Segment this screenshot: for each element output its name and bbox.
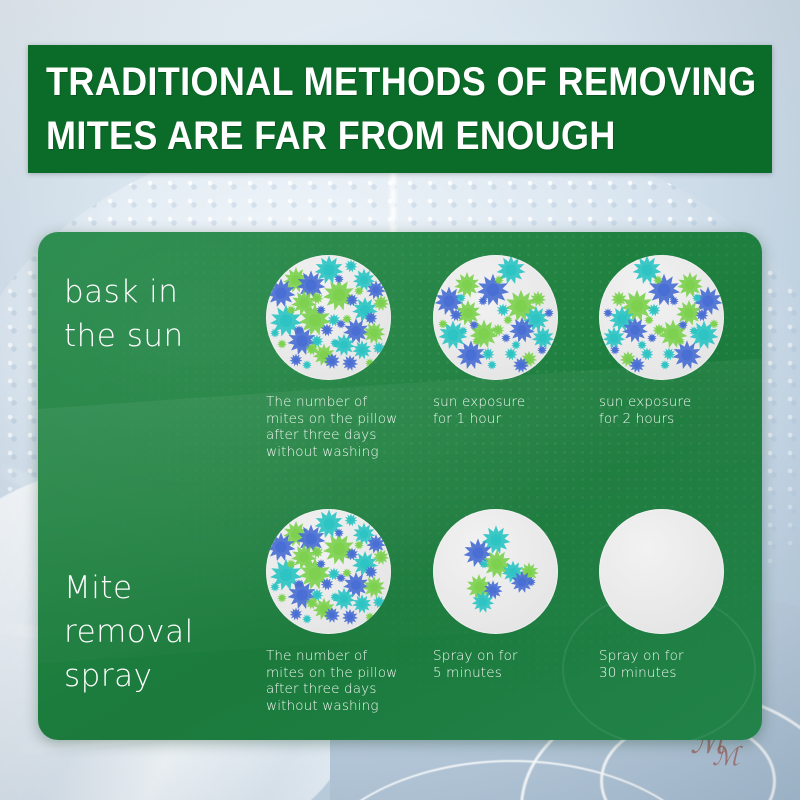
title-banner: TRADITIONAL METHODS OF REMOVING MITES AR…: [28, 45, 772, 173]
row-label-mite-removal-spray: Mite removal spray: [64, 566, 272, 698]
caption-spray-baseline: The number of mites on the pillow after …: [266, 648, 436, 714]
cell-spray-baseline: The number of mites on the pillow after …: [266, 486, 436, 714]
comparison-panel: bask in the sun The number of mites on t…: [38, 232, 762, 740]
caption-spray-5-minutes: Spray on for 5 minutes: [433, 648, 603, 681]
mite-icon: [346, 339, 391, 381]
title-line-1: TRADITIONAL METHODS OF REMOVING: [46, 55, 683, 109]
mite-icon: [346, 593, 391, 635]
mite-icon: [459, 578, 507, 626]
mite-icon: [315, 255, 363, 303]
caption-sun-baseline: The number of mites on the pillow after …: [266, 394, 436, 460]
caption-sun-2-hours: sun exposure for 2 hours: [599, 394, 762, 427]
mite-icon: [275, 306, 323, 354]
petri-dish-sun-1-hour: [433, 255, 558, 380]
poster-stage: ℳ ℳ TRADITIONAL METHODS OF REMOVING MITE…: [0, 0, 800, 800]
cell-sun-2-hours: sun exposure for 2 hours: [599, 232, 762, 427]
petri-dish-spray-baseline: [266, 509, 391, 634]
petri-dish-spray-30-minutes: [599, 509, 724, 634]
cell-sun-1-hour: sun exposure for 1 hour: [433, 232, 603, 427]
title-line-2: MITES ARE FAR FROM ENOUGH: [46, 109, 683, 163]
petri-dish-sun-2-hours: [599, 255, 724, 380]
mite-icon: [659, 301, 707, 349]
cell-sun-baseline: The number of mites on the pillow after …: [266, 232, 436, 460]
mite-icon: [315, 509, 363, 557]
petri-dish-sun-baseline: [266, 255, 391, 380]
cell-spray-30-minutes: Spray on for 30 minutes: [599, 486, 762, 681]
row-bask-in-the-sun: bask in the sun The number of mites on t…: [38, 232, 762, 486]
caption-spray-30-minutes: Spray on for 30 minutes: [599, 648, 762, 681]
row-label-bask-in-the-sun: bask in the sun: [64, 270, 272, 358]
caption-sun-1-hour: sun exposure for 1 hour: [433, 394, 603, 427]
row-mite-removal-spray: Mite removal spray The number of mites o…: [38, 486, 762, 740]
petri-dish-spray-5-minutes: [433, 509, 558, 634]
mite-icon: [450, 301, 498, 349]
cell-spray-5-minutes: Spray on for 5 minutes: [433, 486, 603, 681]
mite-icon: [275, 560, 323, 608]
